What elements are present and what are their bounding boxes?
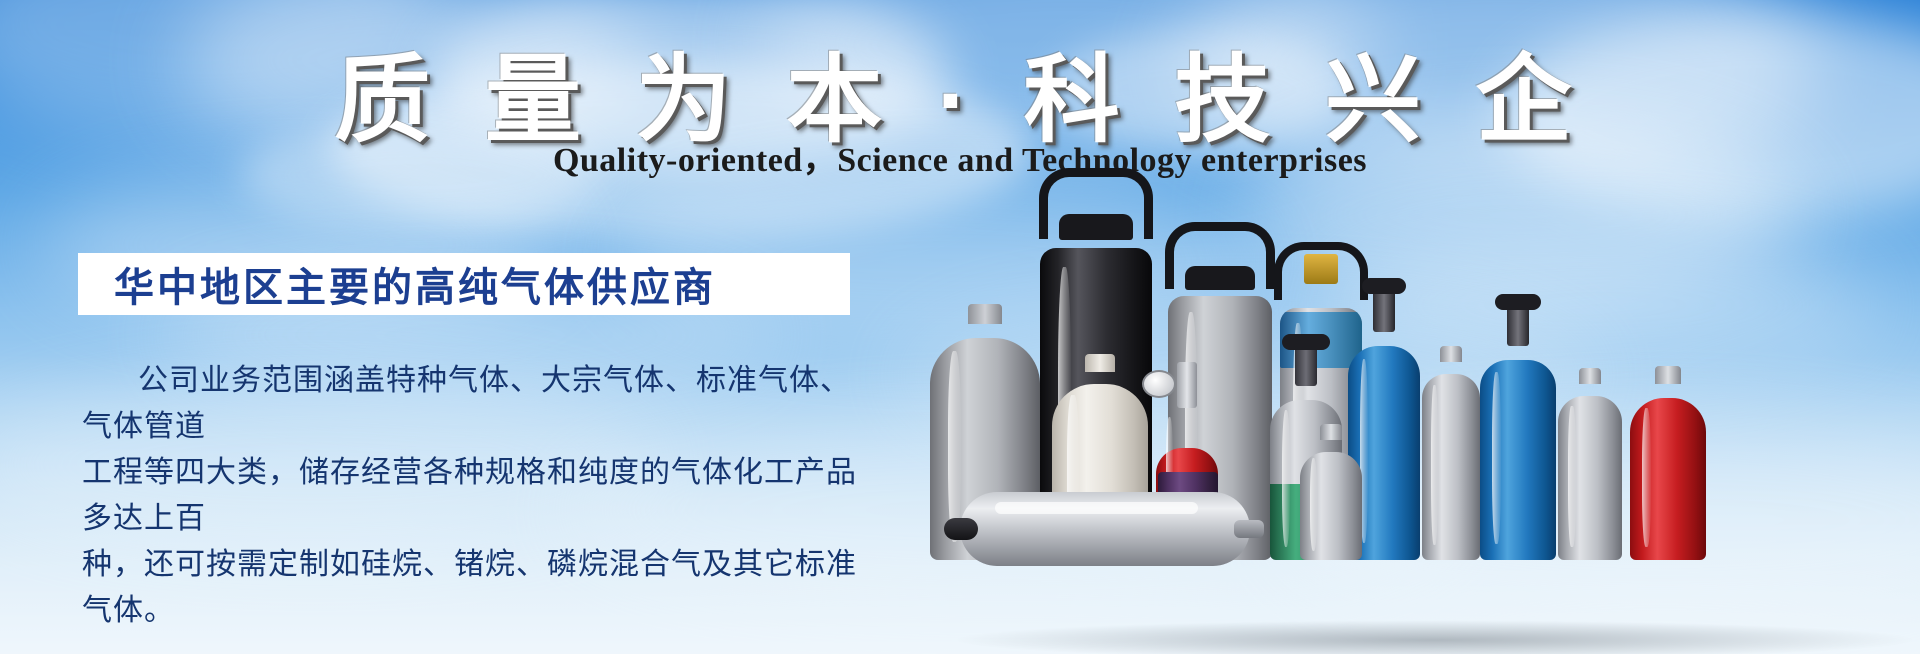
cylinder-valve <box>1295 346 1317 386</box>
group-ground-shadow <box>950 620 1920 654</box>
cylinder-neck <box>1440 346 1462 362</box>
cylinder-highlight <box>1642 408 1651 547</box>
cylinder-neck <box>968 304 1002 324</box>
cylinder-neck <box>1320 424 1342 440</box>
cylinder-highlight <box>995 502 1198 514</box>
cylinder-valve <box>1373 290 1395 332</box>
cylinder-valve <box>1507 306 1529 346</box>
cylinder-neck-ring <box>1185 266 1255 290</box>
cylinder-body <box>1480 360 1556 560</box>
cylinder-highlight <box>1492 372 1501 544</box>
cylinder-body <box>1558 396 1622 560</box>
regulator-gauge <box>1142 370 1176 398</box>
cylinder-regulator <box>1177 362 1197 408</box>
cylinder-body <box>1300 452 1362 560</box>
tagline-text: 华中地区主要的高纯气体供应商 <box>78 255 716 313</box>
cylinder-neck <box>1579 368 1601 384</box>
gas-cylinder-group <box>940 150 1920 560</box>
cylinder-silver-c <box>1558 382 1622 560</box>
cylinder-neck <box>1655 366 1681 384</box>
cylinder-silver-b <box>1300 438 1362 560</box>
cylinder-highlight <box>1282 410 1291 548</box>
banner-hero: 质 量 为 本 · 科 技 兴 企 Quality-oriented，Scien… <box>0 0 1920 654</box>
cylinder-valve-knob <box>1495 294 1541 310</box>
cylinder-highlight <box>1310 458 1317 551</box>
cylinder-red-large <box>1630 382 1706 560</box>
cylinder-neck <box>1085 354 1115 372</box>
cylinder-highlight <box>1431 385 1438 545</box>
cylinder-silver-a <box>1422 360 1480 560</box>
cylinder-body <box>1630 398 1706 560</box>
cylinder-horizontal <box>960 492 1250 566</box>
cylinder-valve-knob <box>1282 334 1330 350</box>
cylinder-brass-valve <box>1304 254 1338 284</box>
cylinder-end-valve <box>944 518 978 540</box>
body-paragraph: 公司业务范围涵盖特种气体、大宗气体、标准气体、气体管道 工程等四大类，储存经营各… <box>82 358 872 634</box>
body-line-3: 种，还可按需定制如硅烷、锗烷、磷烷混合气及其它标准气体。 <box>82 542 872 634</box>
cylinder-neck-ring <box>1059 214 1133 240</box>
cylinder-valve-knob <box>1362 278 1406 294</box>
cylinder-highlight <box>1568 406 1576 547</box>
cylinder-highlight <box>948 351 961 542</box>
body-line-2: 工程等四大类，储存经营各种规格和纯度的气体化工产品多达上百 <box>82 450 872 542</box>
cylinder-end-neck <box>1234 520 1264 538</box>
cylinder-teal-right <box>1480 346 1556 560</box>
body-line-1: 公司业务范围涵盖特种气体、大宗气体、标准气体、气体管道 <box>82 358 872 450</box>
cylinder-body <box>1422 374 1480 560</box>
tagline-box: 华中地区主要的高纯气体供应商 <box>78 253 850 315</box>
